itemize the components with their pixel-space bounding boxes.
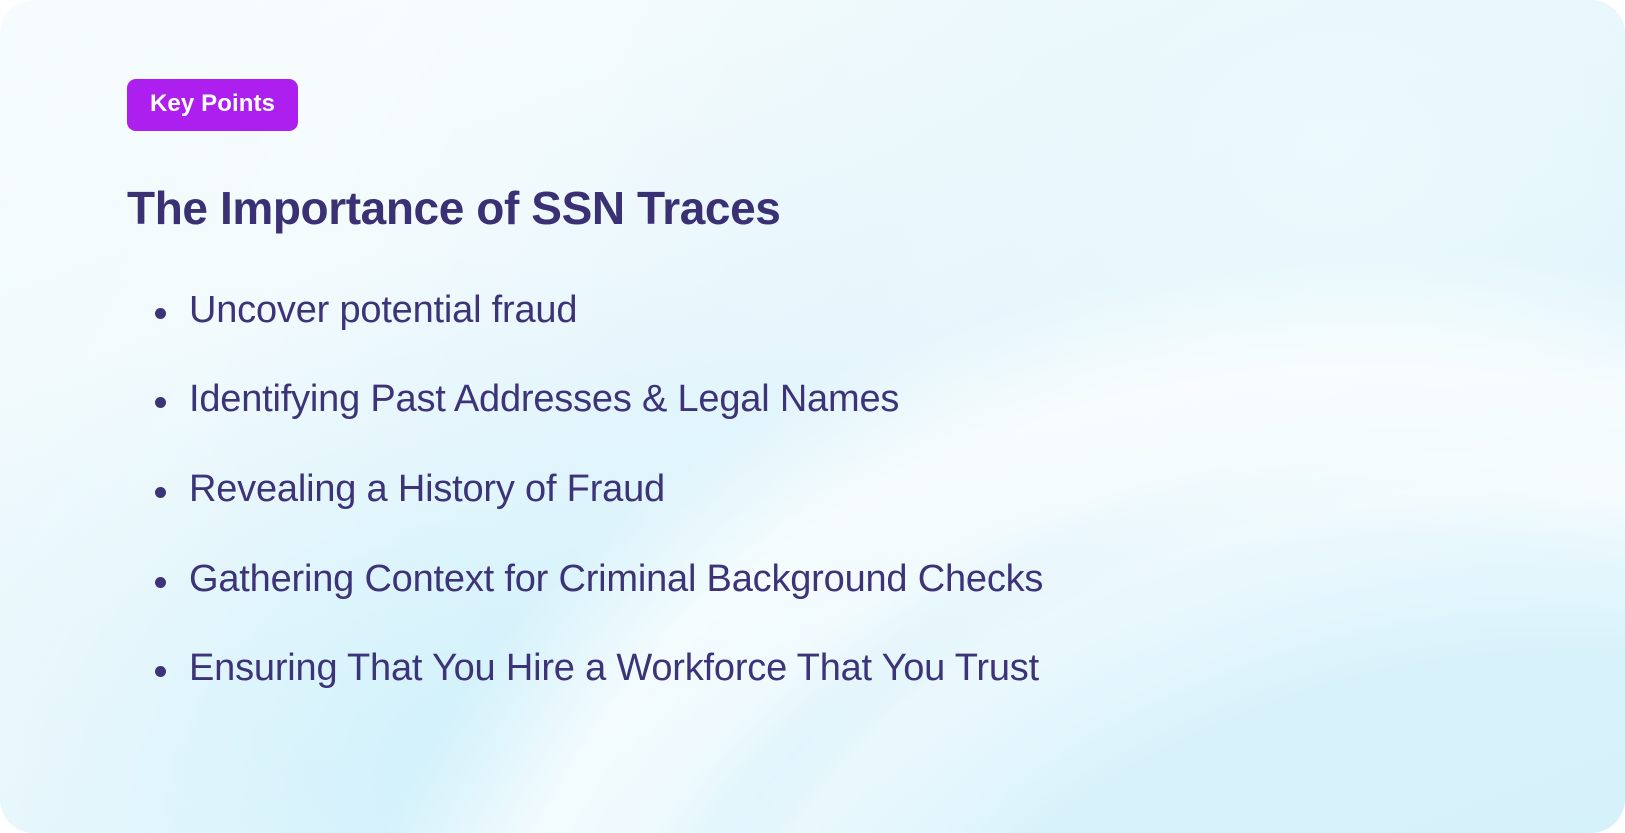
list-item: Gathering Context for Criminal Backgroun…: [127, 558, 1565, 602]
screenshot-stage: Key Points The Importance of SSN Traces …: [0, 0, 1625, 833]
bullet-icon: [155, 487, 166, 498]
bullet-icon: [155, 577, 166, 588]
key-points-badge: Key Points: [127, 79, 298, 131]
key-points-list: Uncover potential fraud Identifying Past…: [127, 289, 1565, 691]
list-item-label: Ensuring That You Hire a Workforce That …: [189, 647, 1039, 689]
list-item: Ensuring That You Hire a Workforce That …: [127, 647, 1565, 691]
key-points-card: Key Points The Importance of SSN Traces …: [0, 0, 1625, 833]
list-item-label: Identifying Past Addresses & Legal Names: [189, 378, 899, 420]
list-item-label: Uncover potential fraud: [189, 289, 577, 331]
page-title: The Importance of SSN Traces: [127, 183, 1565, 234]
list-item: Identifying Past Addresses & Legal Names: [127, 378, 1565, 422]
bullet-icon: [155, 397, 166, 408]
bullet-icon: [155, 666, 166, 677]
list-item: Uncover potential fraud: [127, 289, 1565, 333]
list-item-label: Revealing a History of Fraud: [189, 468, 665, 510]
list-item-label: Gathering Context for Criminal Backgroun…: [189, 558, 1043, 600]
card-content: Key Points The Importance of SSN Traces …: [127, 0, 1565, 691]
list-item: Revealing a History of Fraud: [127, 468, 1565, 512]
bullet-icon: [155, 308, 166, 319]
